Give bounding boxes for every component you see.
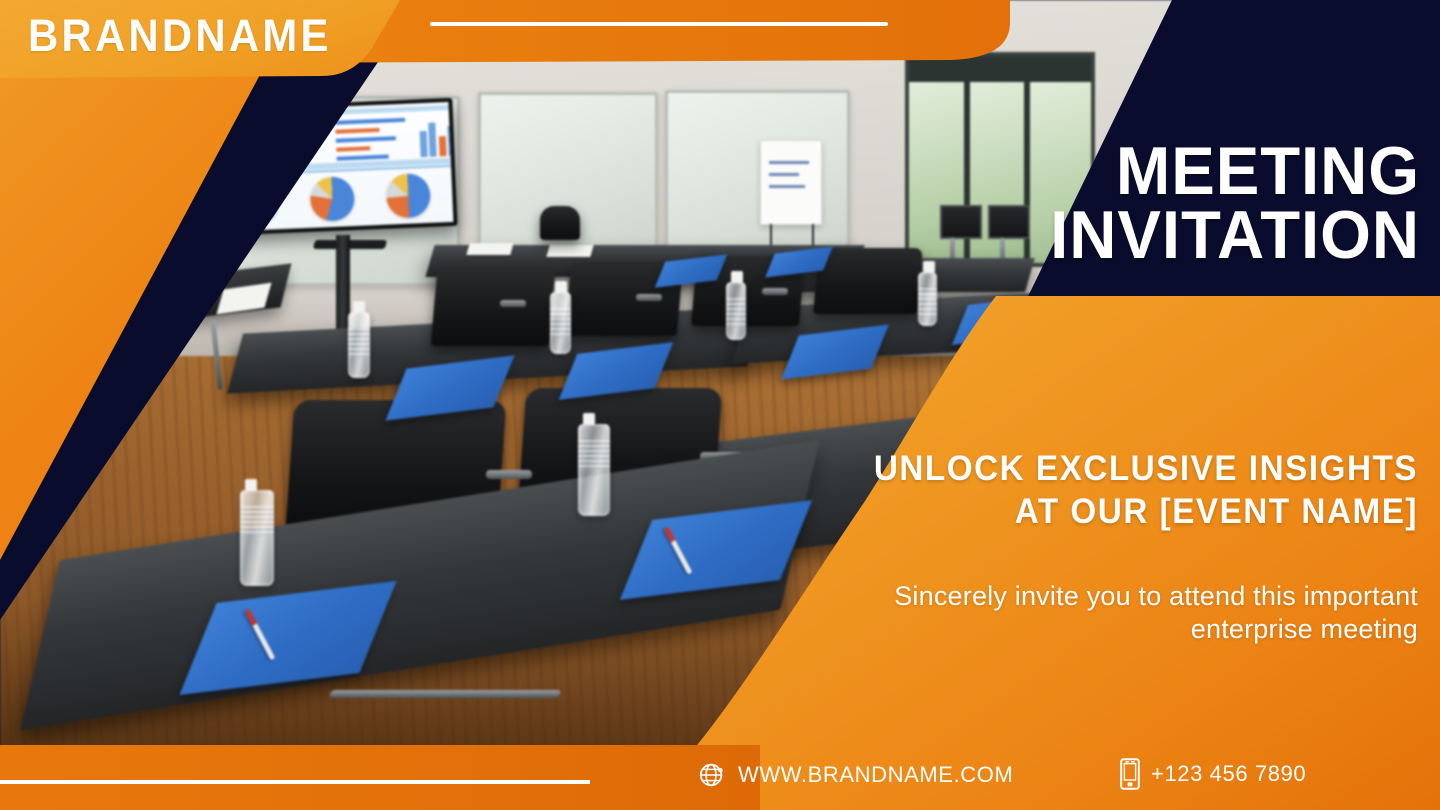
chair xyxy=(540,206,580,240)
phone-label: +123 456 7890 xyxy=(1151,761,1306,787)
phone-contact[interactable]: +123 456 7890 xyxy=(1120,758,1306,790)
headline-line-1: UNLOCK EXCLUSIVE INSIGHTS xyxy=(848,448,1418,491)
globe-icon xyxy=(697,760,727,790)
chair-arm xyxy=(500,300,526,307)
website-contact[interactable]: WWW.BRANDNAME.COM xyxy=(697,760,1013,790)
chair xyxy=(431,268,556,346)
footer-rule xyxy=(0,780,590,784)
flipchart xyxy=(760,140,822,225)
top-rule xyxy=(430,22,888,26)
chair-arm xyxy=(636,294,662,301)
right-orange-swoosh xyxy=(680,296,1440,810)
pie-chart xyxy=(385,173,431,219)
subtext: Sincerely invite you to attend this impo… xyxy=(798,580,1418,646)
water-bottle xyxy=(578,424,610,516)
footer-bar-left xyxy=(0,745,760,810)
table-rail xyxy=(329,690,562,698)
pie-chart xyxy=(309,176,355,222)
title-line-1: MEETING xyxy=(844,140,1420,204)
subtext-line-2: enterprise meeting xyxy=(798,613,1418,646)
brand-name: BRANDNAME xyxy=(28,10,332,62)
name-card xyxy=(466,243,513,255)
water-bottle xyxy=(240,490,274,586)
poster-title: MEETING INVITATION xyxy=(820,140,1420,268)
tv-stand-tray xyxy=(313,240,387,249)
name-card xyxy=(546,245,593,257)
title-line-2: INVITATION xyxy=(844,204,1420,268)
chair-arm xyxy=(486,470,532,479)
website-label: WWW.BRANDNAME.COM xyxy=(738,762,1013,788)
chair-arm xyxy=(762,288,788,295)
subtext-line-1: Sincerely invite you to attend this impo… xyxy=(798,580,1418,613)
poster-canvas: BRANDNAME MEETING INVITATION UNLOCK EXCL… xyxy=(0,0,1440,810)
water-bottle xyxy=(348,312,370,378)
water-bottle xyxy=(550,292,571,354)
smartphone-icon xyxy=(1120,758,1140,790)
headline: UNLOCK EXCLUSIVE INSIGHTS AT OUR [EVENT … xyxy=(818,448,1418,533)
headline-line-2: AT OUR [EVENT NAME] xyxy=(848,491,1418,534)
